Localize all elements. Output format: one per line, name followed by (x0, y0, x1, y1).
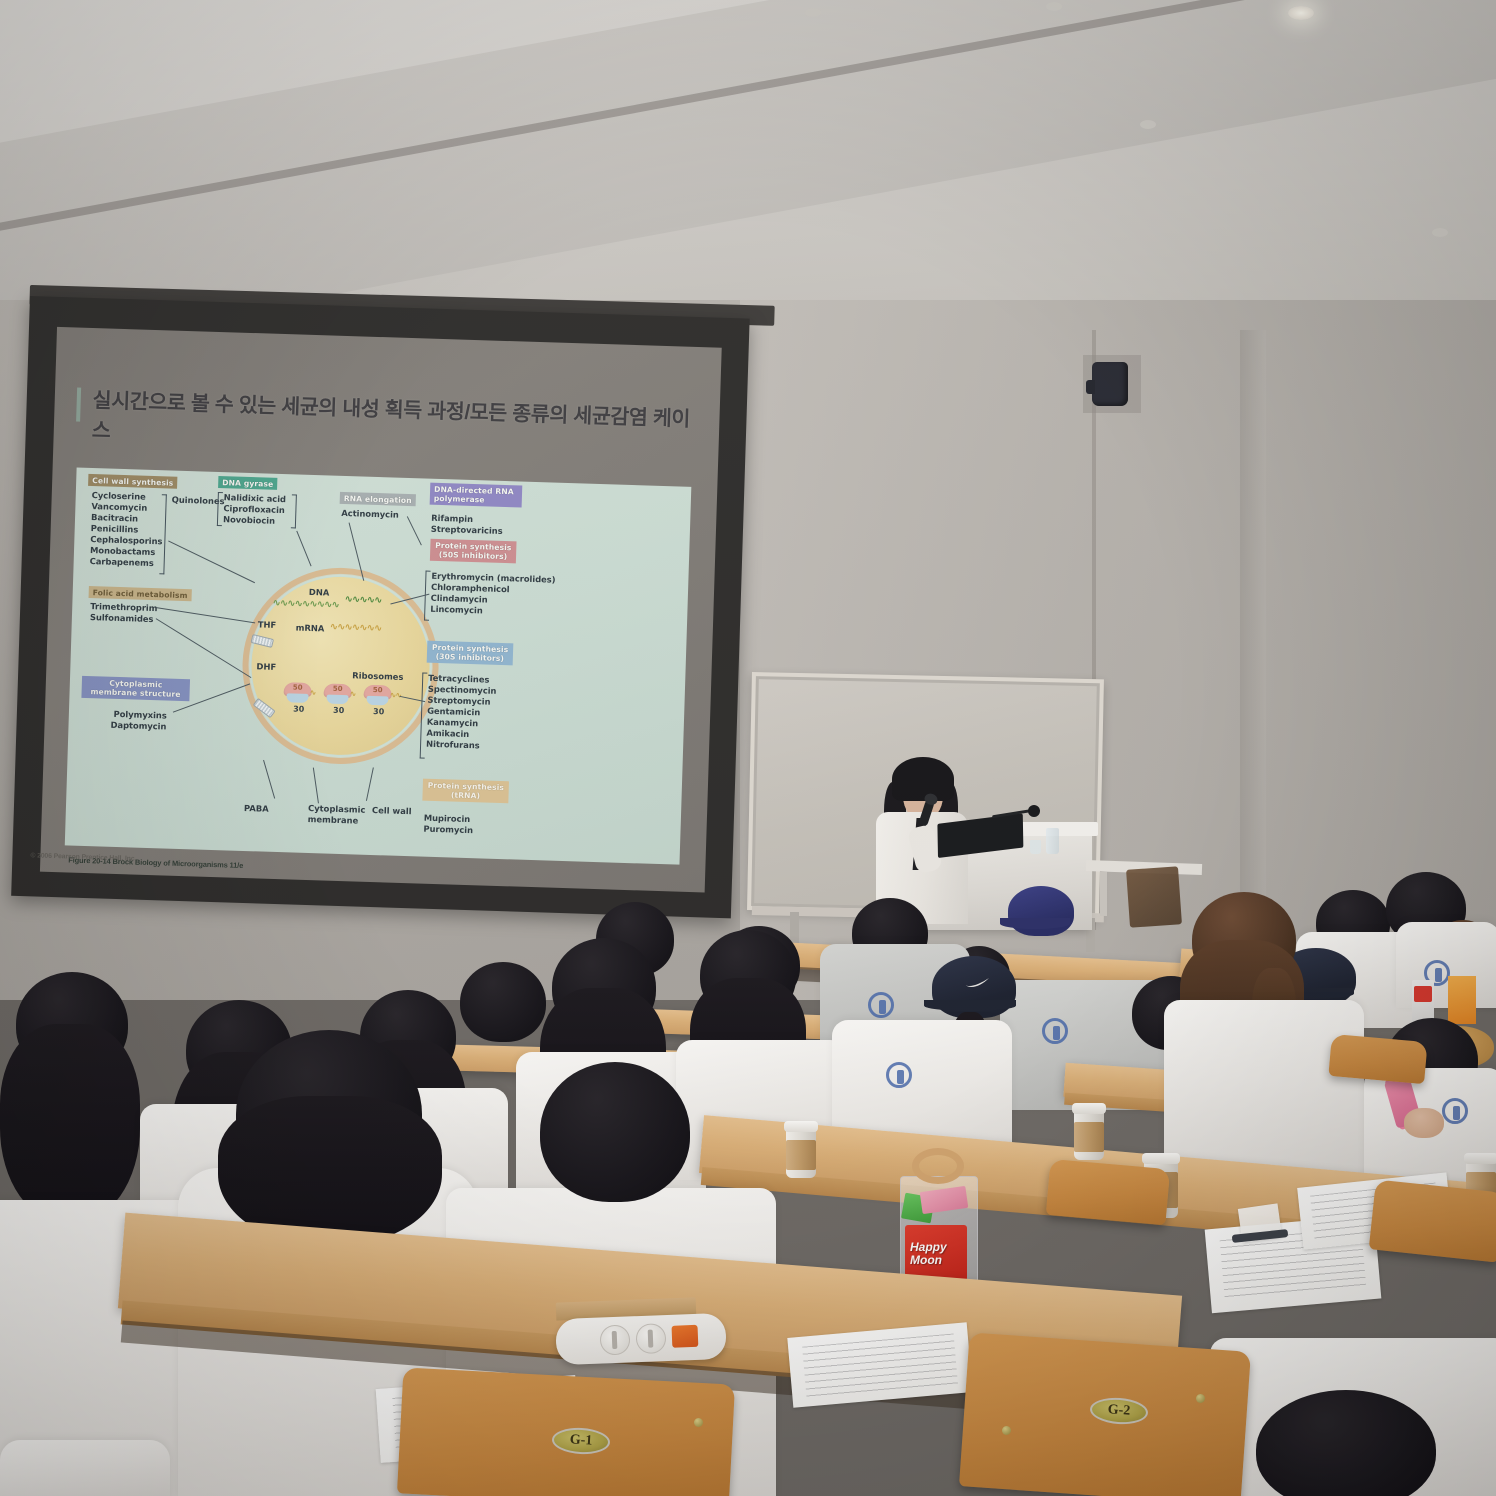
drug-item: Nitrofurans (426, 738, 495, 751)
drug-list-cytoplasmic-membrane: Polymyxins Daptomycin (110, 709, 167, 733)
group-header-rna-elongation: RNA elongation (340, 492, 416, 507)
ceiling-downlight (1288, 6, 1314, 20)
student-head-front (540, 1062, 690, 1202)
wall-pillar (1240, 330, 1266, 910)
drug-list-dna-gyrase: Nalidixic acid Ciprofloxacin Novobiocin (223, 492, 286, 527)
podium-cup (1030, 840, 1041, 854)
ceiling-fixture-dot (1046, 2, 1062, 11)
desk-power-module[interactable] (555, 1313, 727, 1365)
student-head (460, 962, 546, 1042)
ribosome-small-subunit (286, 693, 308, 703)
leader-line (168, 541, 255, 584)
drug-list-folic-acid-metabolism: Trimethroprim Sulfonamides (90, 601, 158, 625)
drug-item: Carbapenems (90, 556, 162, 569)
bracket (291, 494, 297, 528)
cup-lid (1072, 1103, 1106, 1114)
bracket (159, 494, 167, 574)
student-coat (1164, 1000, 1364, 1180)
cup-lid (1464, 1153, 1496, 1164)
leader-line (296, 531, 311, 567)
power-socket[interactable] (635, 1323, 666, 1354)
chair-label-text: G-1 (569, 1432, 592, 1449)
figure-label-paba: PABA (244, 803, 269, 814)
drug-list-cell-wall-synthesis: Cycloserine Vancomycin Bacitracin Penici… (90, 490, 164, 569)
cup-sleeve (1074, 1122, 1104, 1152)
ceiling-fixture-dot (1140, 120, 1156, 129)
uniform-patch (1042, 1018, 1068, 1044)
figure-label-cell-wall: Cell wall (372, 805, 412, 816)
mrna-strand-glyph: ∿∿∿∿∿∿∿ (330, 622, 382, 635)
group-header-dna-directed-rna-polymerase: DNA-directed RNA polymerase (430, 483, 523, 508)
projection-screen: 실시간으로 볼 수 있는 세균의 내성 획득 과정/모든 종류의 세균감염 케이… (11, 296, 749, 918)
drug-list-rna-elongation: Actinomycin (341, 508, 399, 521)
leader-line (156, 607, 255, 623)
bag-handle (912, 1148, 964, 1184)
slide-title: 실시간으로 볼 수 있는 세균의 내성 획득 과정/모든 종류의 세균감염 케이… (91, 386, 693, 465)
chair-label-text: G-2 (1107, 1402, 1131, 1420)
presenter-hair (892, 757, 954, 801)
ribosome-30-label: 30 (373, 707, 384, 716)
ribosome: 50 (363, 685, 392, 708)
uniform-patch (868, 992, 894, 1018)
drug-list-protein-synthesis-trna: Mupirocin Puromycin (423, 813, 473, 836)
chair-back[interactable] (1369, 1179, 1496, 1262)
ribosome-50-label: 50 (373, 686, 383, 694)
lecture-hall-photo: 실시간으로 볼 수 있는 세균의 내성 획득 과정/모든 종류의 세균감염 케이… (0, 0, 1496, 1496)
drug-item: Streptovaricins (431, 524, 503, 537)
ceiling-fixture-dot (805, 8, 821, 17)
ribosome-30-label: 30 (333, 706, 344, 715)
cap-brim (924, 1000, 1016, 1011)
figure-label-ribosomes: Ribosomes (352, 670, 403, 682)
coffee-cup (1074, 1108, 1104, 1160)
figure-label-dna: DNA (309, 587, 330, 598)
leader-line (263, 760, 275, 799)
leader-line (313, 768, 319, 804)
ribosome-50-label: 50 (293, 683, 303, 691)
ribosome: 50 (283, 682, 312, 705)
ribosome-30-label: 30 (293, 704, 304, 713)
coffee-cup (786, 1126, 816, 1178)
uniform-patch (886, 1062, 912, 1088)
leader-line (366, 767, 374, 800)
juice-carton (1448, 976, 1476, 1024)
ceiling-fixture-dot (1432, 228, 1448, 237)
water-bottle (1046, 828, 1059, 854)
ribosome: 50 (323, 683, 352, 706)
side-table-leg (1100, 872, 1107, 916)
chair-back[interactable] (1328, 1034, 1427, 1084)
figure-label-thf: THF (258, 619, 277, 630)
cup-lid (784, 1121, 818, 1132)
dna-strand-glyph: ∿∿∿∿∿∿∿∿∿ (272, 598, 339, 611)
presentation-slide: 실시간으로 볼 수 있는 세균의 내성 획득 과정/모든 종류의 세균감염 케이… (40, 327, 722, 893)
student-hand (1404, 1108, 1444, 1138)
drug-list-rna-polymerase: Rifampin Streptovaricins (431, 513, 503, 537)
chair-screw (1196, 1394, 1205, 1403)
figure-label-mrna: mRNA (296, 623, 325, 634)
figure-label-dhf: DHF (256, 661, 276, 672)
mrna-strand-glyph: ∿ (350, 689, 356, 698)
student-hair (0, 1024, 140, 1224)
nike-swoosh-icon (964, 978, 990, 988)
brown-bag (1126, 866, 1182, 927)
group-header-folic-acid-metabolism: Folic acid metabolism (89, 586, 192, 602)
uniform-patch (1442, 1098, 1468, 1124)
paper-text-lines (802, 1333, 957, 1398)
drug-item: Actinomycin (341, 508, 399, 521)
ribosome-50-label: 50 (333, 685, 343, 693)
power-socket[interactable] (599, 1324, 630, 1355)
leader-line (156, 618, 252, 678)
cap-brim (1000, 918, 1070, 929)
cup-lid (1142, 1153, 1180, 1164)
snack-red-wrapper: Happy Moon (905, 1225, 967, 1281)
chair-screw (694, 1418, 703, 1427)
group-header-cytoplasmic-membrane-structure: Cytoplasmic membrane structure (81, 676, 190, 701)
group-header-cell-wall-synthesis: Cell wall synthesis (88, 474, 178, 489)
group-header-dna-gyrase: DNA gyrase (218, 476, 277, 490)
drug-item: Sulfonamides (90, 612, 157, 625)
snack-pink-wrapper (920, 1186, 969, 1214)
student-coat-front-far (0, 1440, 170, 1496)
figure-label-cytoplasmic-membrane: Cytoplasmic membrane (308, 803, 373, 826)
drug-item: Daptomycin (110, 720, 166, 733)
power-switch[interactable] (672, 1325, 699, 1348)
group-header-protein-synthesis-trna: Protein synthesis (tRNA) (422, 779, 509, 804)
mrna-strand-glyph: ∿ (310, 688, 316, 697)
chair-back[interactable] (1046, 1159, 1170, 1225)
cup-sleeve (786, 1140, 816, 1170)
ribosome-small-subunit (326, 695, 348, 705)
wall-speaker-icon (1092, 362, 1128, 406)
group-header-protein-synthesis-50s: Protein synthesis (50S inhibitors) (430, 539, 517, 564)
dna-strand-glyph: ∿∿∿∿∿ (344, 594, 381, 606)
snack-brand-label: Happy Moon (910, 1241, 967, 1266)
drug-list-protein-synthesis-30s: Tetracyclines Spectinomycin Streptomycin… (426, 673, 497, 752)
title-accent-bar (76, 388, 81, 422)
ribosome-small-subunit (366, 696, 388, 706)
leader-line (407, 516, 422, 545)
drug-item: Novobiocin (223, 514, 286, 527)
chair-screw (1002, 1426, 1011, 1435)
drug-list-protein-synthesis-50s: Erythromycin (macrolides) Chloramphenico… (430, 571, 555, 619)
drug-item: Puromycin (423, 824, 473, 836)
group-header-protein-synthesis-30s: Protein synthesis (30S inhibitors) (427, 641, 514, 666)
antibiotic-targets-figure: DNA ∿∿∿∿∿∿∿∿∿ ∿∿∿∿∿ mRNA ∿∿∿∿∿∿∿ THF DHF… (65, 468, 692, 865)
microphone-head-icon (1028, 805, 1040, 817)
